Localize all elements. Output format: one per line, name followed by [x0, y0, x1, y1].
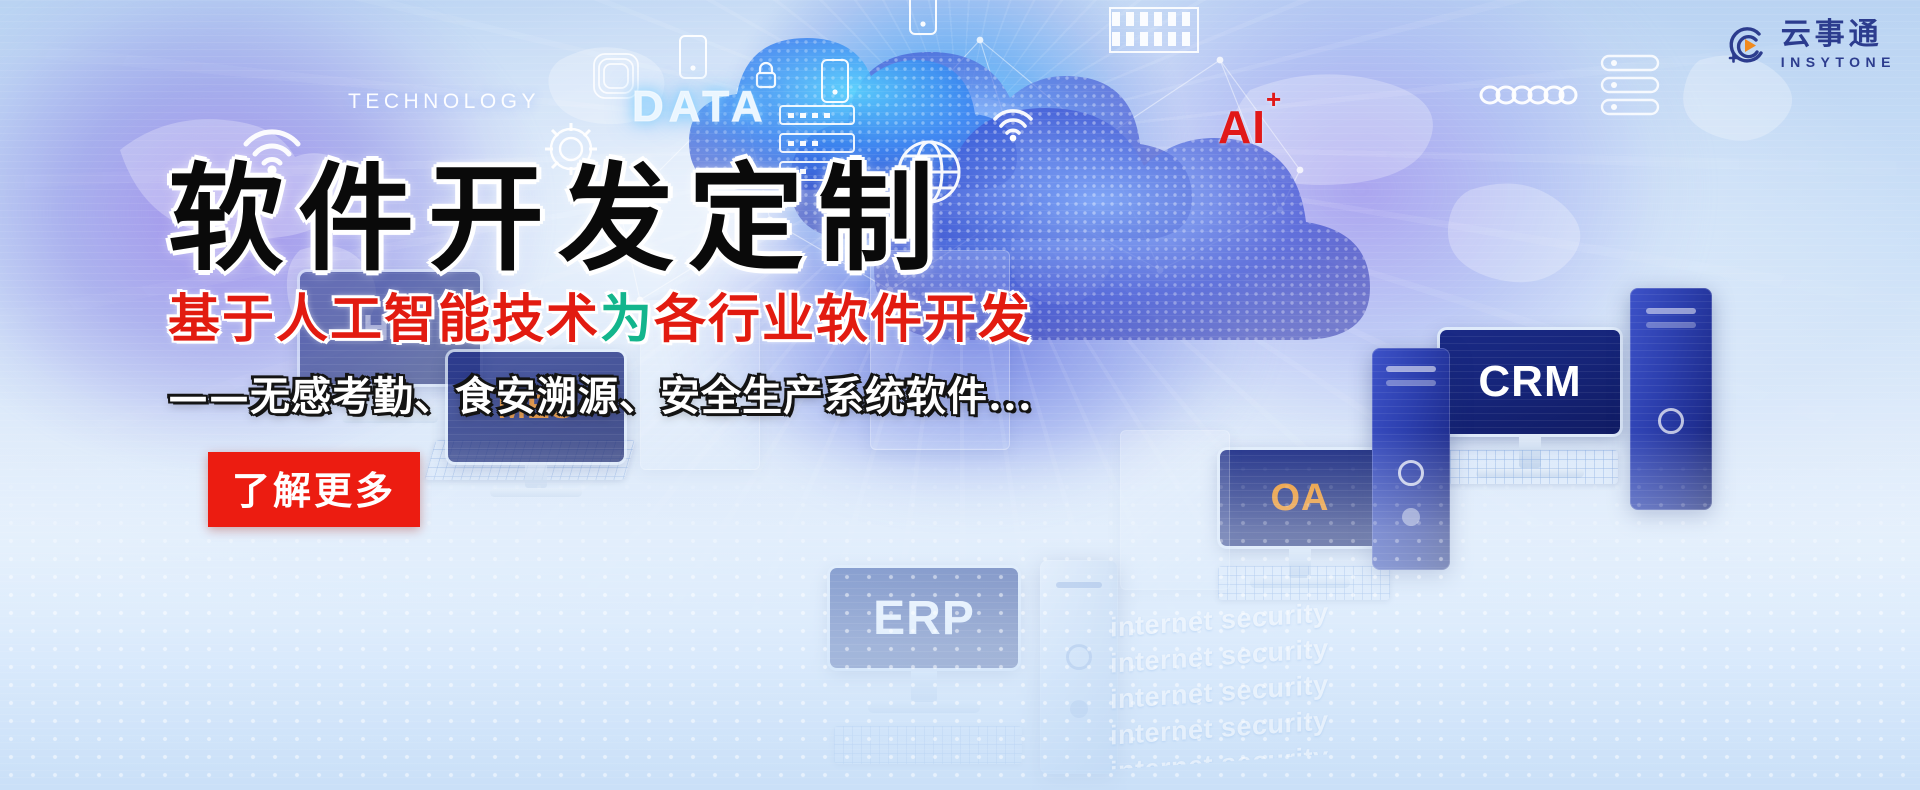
hero-tagline: ——无感考勤、食安溯源、安全生产系统软件...	[168, 364, 1168, 422]
subline-part2: 各行业软件开发	[654, 289, 1032, 350]
hero-copy: 软件开发定制 基于人工智能技术为各行业软件开发 ——无感考勤、食安溯源、安全生产…	[168, 160, 1168, 527]
hero-banner: HR MES ERP OA CRM	[0, 0, 1920, 790]
brand-logo-text: 云事通 INSYTONE	[1781, 20, 1896, 69]
brand-logo[interactable]: 云事通 INSYTONE	[1725, 20, 1896, 69]
data-label: DATA	[632, 82, 768, 132]
technology-label: TECHNOLOGY	[348, 90, 540, 114]
ai-plus-label: AI+	[1218, 100, 1282, 154]
subline-highlight: 为	[600, 289, 654, 350]
swirl-play-icon	[1725, 22, 1771, 68]
page-title: 软件开发定制	[168, 160, 1168, 278]
ai-text: AI	[1218, 101, 1266, 153]
brand-name-en: INSYTONE	[1781, 55, 1896, 69]
hero-subline: 基于人工智能技术为各行业软件开发	[168, 292, 1168, 348]
brand-name-cn: 云事通	[1781, 20, 1896, 50]
subline-part1: 基于人工智能技术	[168, 289, 600, 350]
ai-superscript: +	[1266, 84, 1282, 114]
learn-more-button[interactable]: 了解更多	[208, 452, 420, 527]
